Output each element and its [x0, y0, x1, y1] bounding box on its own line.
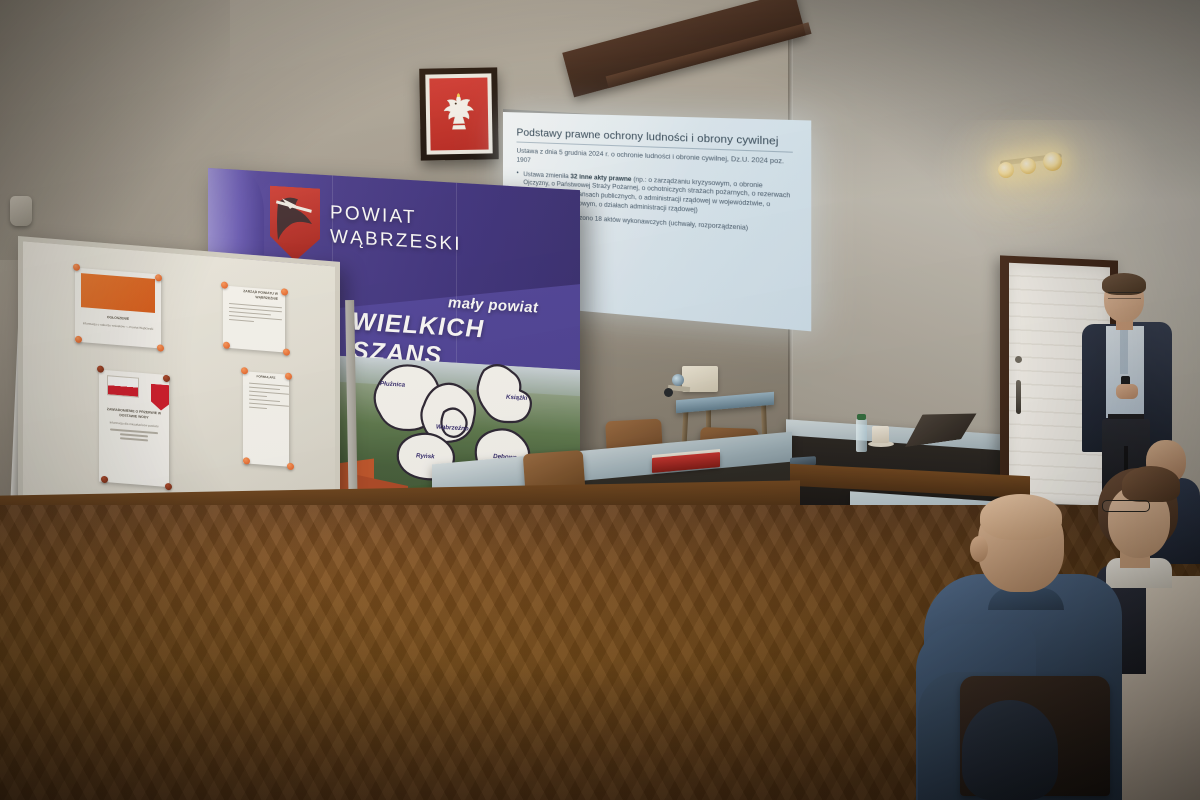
magnet-icon[interactable]	[285, 372, 292, 380]
magnet-icon[interactable]	[243, 457, 250, 465]
whiteboard-document[interactable]: ZAWIADOMIENIE O PRZERWIE W DOSTAWIE WODY…	[99, 370, 169, 488]
polish-eagle-icon	[435, 84, 484, 144]
map-label-ksiazki: Książki	[506, 394, 527, 402]
presenter-placket	[1120, 328, 1128, 374]
whiteboard-document[interactable]: FORMULARZ	[243, 371, 289, 467]
ceiling-light-glow	[930, 120, 1160, 250]
document-text-line	[249, 398, 280, 402]
spotlight-icon	[1020, 158, 1036, 174]
door-handle[interactable]	[1016, 380, 1021, 414]
glasses-icon	[1108, 292, 1141, 299]
projector-lens-icon	[672, 374, 684, 386]
projector-knob	[664, 388, 673, 397]
magnet-icon[interactable]	[101, 476, 108, 484]
map-label-pluznica: Płużnica	[380, 380, 405, 388]
magnet-icon[interactable]	[287, 463, 294, 471]
magnet-icon[interactable]	[281, 288, 288, 296]
magnet-icon[interactable]	[221, 281, 228, 289]
door-lock-icon	[1015, 356, 1022, 363]
whiteboard-document[interactable]: OGŁOSZENIE Informacja o naborze wniosków…	[75, 268, 161, 349]
conference-room-photo: Podstawy prawne ochrony ludności i obron…	[0, 0, 1200, 800]
magnet-icon[interactable]	[155, 274, 162, 282]
document-text-line	[120, 437, 148, 441]
framed-coat-of-arms	[419, 67, 499, 160]
whiteboard-document[interactable]: ZARZĄD POWIATU W WĄBRZEŹNIE	[223, 285, 285, 352]
magnet-icon[interactable]	[165, 483, 172, 491]
document-text-line	[120, 433, 148, 437]
document-text-line	[249, 406, 267, 409]
magnet-icon[interactable]	[157, 344, 164, 352]
spotlight-icon	[998, 162, 1014, 178]
bottle-cap	[857, 414, 866, 420]
magnet-icon[interactable]	[75, 336, 82, 344]
magnet-icon[interactable]	[241, 367, 248, 375]
foreground-person-head	[962, 700, 1058, 800]
magnet-icon[interactable]	[223, 341, 230, 349]
county-crest-icon	[270, 186, 320, 263]
crest-eagle-wing-icon	[270, 186, 320, 263]
magnet-icon[interactable]	[97, 365, 104, 373]
attendee-ear	[970, 536, 988, 562]
attendee-hair-front	[1122, 466, 1180, 502]
document-text-line	[229, 319, 254, 323]
magnet-icon[interactable]	[163, 375, 170, 383]
magnet-icon[interactable]	[73, 263, 80, 271]
banner-title: POWIAT WĄBRZESKI	[330, 201, 462, 257]
magnet-icon[interactable]	[283, 348, 290, 356]
document-header-banner	[81, 273, 155, 313]
emblem-field	[429, 77, 488, 150]
attendee-scalp	[980, 494, 1062, 540]
bullet-1-prefix: Ustawa zmieniła	[523, 171, 570, 180]
document-heading: ZARZĄD POWIATU W WĄBRZEŹNIE	[223, 285, 285, 304]
presenter-hands	[1116, 384, 1138, 399]
document-heading: FORMULARZ	[243, 371, 289, 383]
document-text-line	[249, 394, 267, 397]
cup[interactable]	[872, 426, 889, 443]
map-label-rynsk: Ryńsk	[416, 452, 435, 460]
spotlight-icon	[1043, 152, 1062, 171]
wall-sensor-icon	[10, 196, 32, 226]
left-wall-shading	[0, 0, 230, 260]
water-bottle[interactable]	[856, 418, 867, 452]
crest-icon	[151, 384, 169, 412]
polish-flag-icon	[107, 375, 139, 398]
frame-mat	[425, 73, 492, 154]
